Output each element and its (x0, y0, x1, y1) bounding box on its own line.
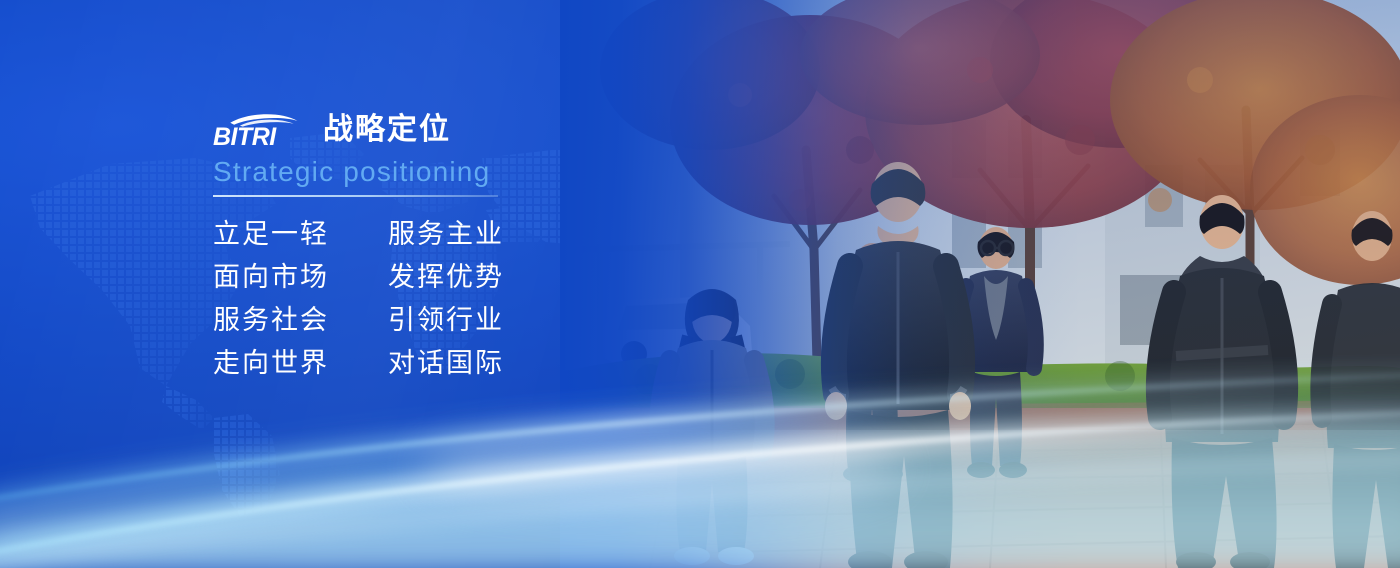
slogan-left: 走向世界 (213, 342, 355, 385)
banner-title-cn: 战略定位 (323, 113, 451, 147)
strategic-positioning-banner: BITRI 战略定位 Strategic positioning 立足一轻 服务… (0, 0, 1400, 568)
slogan-left: 面向市场 (213, 256, 355, 299)
title-divider (213, 195, 498, 197)
banner-subtitle-en: Strategic positioning (213, 155, 773, 189)
bitri-logo[interactable]: BITRI (213, 110, 309, 150)
slogan-right: 发挥优势 (388, 256, 530, 299)
slogan-right: 引领行业 (388, 299, 530, 342)
slogan-left: 服务社会 (213, 299, 355, 342)
slogan-row: 立足一轻 服务主业 (213, 213, 773, 256)
slogan-row: 服务社会 引领行业 (213, 299, 773, 342)
slogan-right: 服务主业 (388, 213, 530, 256)
slogan-right: 对话国际 (388, 342, 530, 385)
title-row: BITRI 战略定位 (213, 108, 773, 152)
slogan-row: 走向世界 对话国际 (213, 342, 773, 385)
slogan-row: 面向市场 发挥优势 (213, 256, 773, 299)
svg-text:BITRI: BITRI (213, 123, 277, 150)
slogan-list: 立足一轻 服务主业 面向市场 发挥优势 服务社会 引领行业 走向世界 对话国际 (213, 213, 773, 385)
banner-content: BITRI 战略定位 Strategic positioning 立足一轻 服务… (213, 108, 773, 385)
slogan-left: 立足一轻 (213, 213, 355, 256)
